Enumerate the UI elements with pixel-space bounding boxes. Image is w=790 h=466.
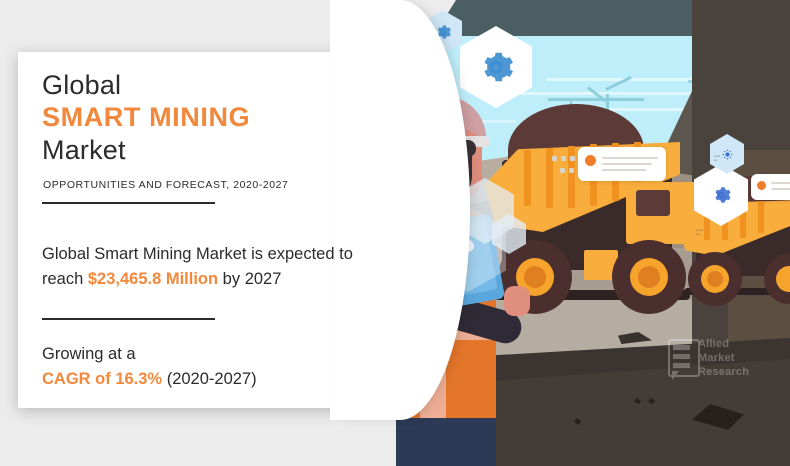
icon-caption: ▪▪▪▪▪▪▪▪▪▪ — [696, 228, 704, 236]
stat-1-suffix: by 2027 — [218, 270, 281, 288]
watermark-line-3: Research — [698, 366, 749, 379]
divider — [42, 202, 215, 204]
infographic-canvas: ▪▪▪▪▪▪▪▪ ▪▪▪▪▪▪▪▪▪▪ Allied Market Re — [0, 0, 790, 466]
watermark-logo: Allied Market Research — [668, 337, 778, 393]
title-line-1: Global — [42, 70, 121, 101]
worker-hand — [504, 286, 530, 316]
stat-2-highlight: CAGR of 16.3% — [42, 370, 162, 388]
icon-caption: ▪▪▪▪▪▪▪▪ — [714, 154, 720, 162]
stat-cagr: Growing at aCAGR of 16.3% (2020-2027) — [42, 342, 362, 392]
stat-1-highlight: $23,465.8 Million — [88, 270, 218, 288]
title-line-3: Market — [42, 135, 126, 166]
worker-pants — [396, 418, 496, 466]
watermark-line-1: Allied — [698, 338, 729, 351]
speech-bubble-tail — [672, 371, 679, 380]
title-line-2: SMART MINING — [42, 102, 250, 133]
subtitle: OPPORTUNITIES AND FORECAST, 2020-2027 — [43, 179, 288, 191]
notification-card[interactable] — [578, 147, 666, 181]
info-card-content: Global SMART MINING Market OPPORTUNITIES… — [18, 52, 418, 408]
truck-window — [636, 190, 670, 216]
stat-2-suffix: (2020-2027) — [162, 370, 256, 388]
notification-card[interactable] — [751, 174, 790, 200]
stat-2-prefix: Growing at a — [42, 345, 136, 363]
divider — [42, 318, 215, 320]
stat-market-size: Global Smart Mining Market is expected t… — [42, 242, 382, 292]
watermark-line-2: Market — [698, 352, 735, 365]
